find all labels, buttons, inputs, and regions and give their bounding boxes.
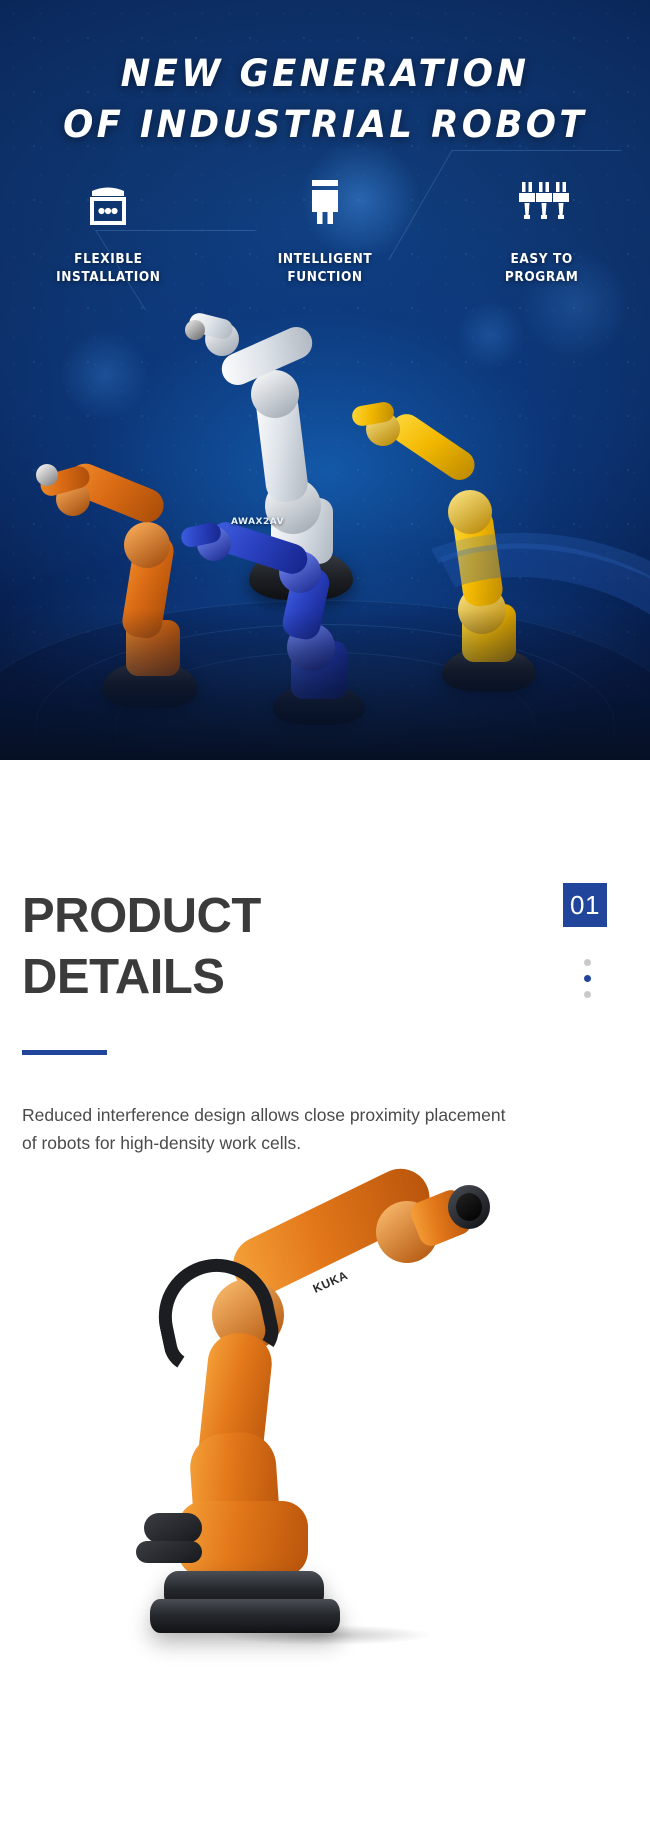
feature-label-line-2: INSTALLATION — [56, 269, 160, 285]
pager-dot-1[interactable] — [584, 959, 591, 966]
title-underline-rule — [22, 1050, 107, 1055]
intelligent-function-icon — [300, 172, 350, 228]
hero-title: NEW GENERATION OF INDUSTRIAL ROBOT — [0, 48, 650, 150]
carousel-pagination[interactable] — [584, 959, 591, 998]
wrist-cable-block — [144, 1513, 202, 1543]
kuka-robot-illustration: KUKA — [118, 1183, 538, 1653]
hero-title-line-1: NEW GENERATION — [13, 48, 637, 99]
yellow-robot-arm — [400, 390, 600, 720]
feature-label: INTELLIGENT FUNCTION — [278, 250, 373, 286]
photo-ground-shadow — [220, 1625, 430, 1645]
section-title-line-1: PRODUCT — [22, 889, 261, 943]
page-title: PRODUCT DETAILS — [22, 886, 610, 1008]
product-details-section: PRODUCT DETAILS 01 Reduced interference … — [0, 760, 650, 1834]
kuka-brand-logo: KUKA — [311, 1268, 350, 1296]
robot-model-tag: AWAX2AV — [231, 517, 284, 527]
easy-to-program-icon — [515, 172, 569, 228]
blue-robot-arm: AWAX2AV — [195, 515, 415, 730]
hero-robot-group: AWAX2AV — [0, 290, 650, 730]
section-title-line-2: DETAILS — [22, 947, 610, 1008]
kuka-robot-arm-photo: KUKA — [0, 1183, 650, 1653]
hero-banner: NEW GENERATION OF INDUSTRIAL ROBOT FLEXI… — [0, 0, 650, 760]
feature-flexible-installation: FLEXIBLE INSTALLATION — [0, 172, 217, 286]
feature-label-line-2: FUNCTION — [287, 269, 362, 285]
feature-label-line-1: INTELLIGENT — [278, 251, 373, 267]
section-description: Reduced interference design allows close… — [22, 1101, 522, 1158]
hero-feature-list: FLEXIBLE INSTALLATION INTELLIGENT FUNCTI… — [0, 172, 650, 286]
pager-dot-3[interactable] — [584, 991, 591, 998]
feature-intelligent-function: INTELLIGENT FUNCTION — [217, 172, 434, 286]
section-header: PRODUCT DETAILS 01 — [0, 760, 650, 1008]
feature-label-line-2: PROGRAM — [505, 269, 579, 285]
product-detail-page: NEW GENERATION OF INDUSTRIAL ROBOT FLEXI… — [0, 0, 650, 1834]
hero-title-line-2: OF INDUSTRIAL ROBOT — [13, 99, 637, 150]
feature-label: EASY TO PROGRAM — [505, 250, 579, 286]
feature-label-line-1: EASY TO — [511, 251, 573, 267]
pager-dot-2-active[interactable] — [584, 975, 591, 982]
feature-label-line-1: FLEXIBLE — [74, 251, 142, 267]
feature-easy-to-program: EASY TO PROGRAM — [433, 172, 650, 286]
feature-label: FLEXIBLE INSTALLATION — [56, 250, 160, 286]
status-badge: 01 — [563, 883, 607, 927]
flexible-installation-icon — [83, 172, 133, 228]
